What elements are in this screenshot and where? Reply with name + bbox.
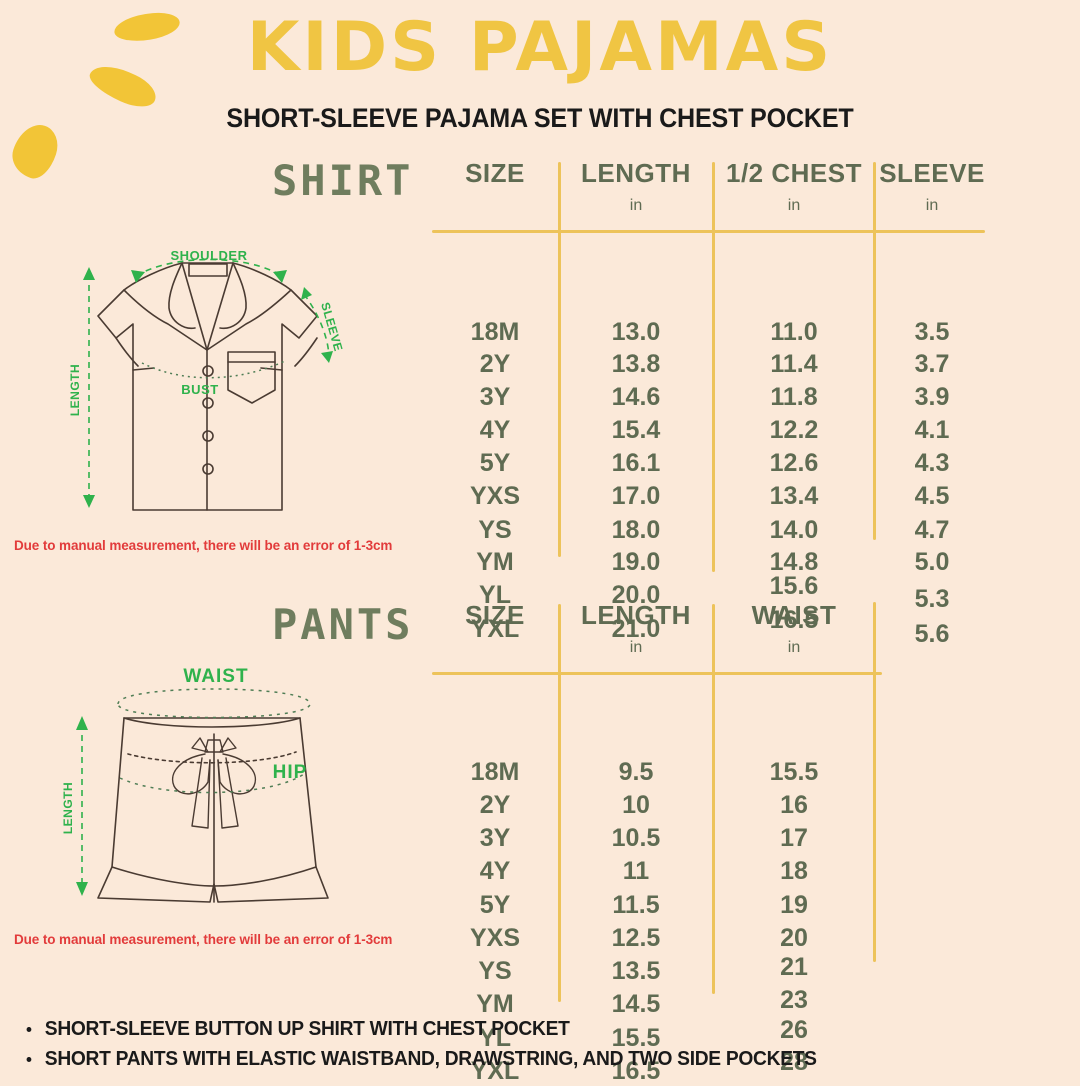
table-cell-waist: 19	[714, 891, 874, 920]
pants-measurement-note: Due to manual measurement, there will be…	[14, 932, 392, 947]
pants-table-header: SIZE LENGTH in WAIST in	[432, 600, 988, 672]
table-cell-length: 13.5	[560, 957, 712, 986]
table-cell-length: 13.0	[560, 318, 712, 347]
page-subtitle: SHORT-SLEEVE PAJAMA SET WITH CHEST POCKE…	[38, 103, 1042, 134]
list-item: SHORT-SLEEVE BUTTON UP SHIRT WITH CHEST …	[16, 1014, 1014, 1044]
table-cell-sleeve: 3.5	[876, 318, 988, 347]
table-cell-length: 12.5	[560, 924, 712, 953]
table-cell-half_chest: 15.6	[714, 572, 874, 601]
pants-diagram: WAIST HIP LENGTH	[32, 662, 412, 942]
table-cell-length: 16.1	[560, 449, 712, 478]
size-chart-poster: KIDS PAJAMAS SHORT-SLEEVE PAJAMA SET WIT…	[0, 0, 1080, 1080]
pants-hip-label: HIP	[273, 762, 308, 783]
table-cell-waist: 15.5	[714, 758, 874, 787]
table-cell-size: 5Y	[432, 891, 558, 920]
table-cell-size: 4Y	[432, 416, 558, 445]
table-cell-size: YM	[432, 548, 558, 577]
pants-section-heading: PANTS	[272, 604, 413, 646]
table-cell-waist: 16	[714, 791, 874, 820]
table-cell-length: 10	[560, 791, 712, 820]
table-cell-half_chest: 12.6	[714, 449, 874, 478]
table-cell-half_chest: 14.0	[714, 516, 874, 545]
shirt-section-heading: SHIRT	[272, 160, 413, 202]
table-cell-sleeve: 4.1	[876, 416, 988, 445]
table-cell-length: 9.5	[560, 758, 712, 787]
shirt-shoulder-label: SHOULDER	[171, 248, 248, 263]
table-cell-length: 15.4	[560, 416, 712, 445]
table-cell-sleeve: 3.7	[876, 350, 988, 379]
table-cell-length: 10.5	[560, 824, 712, 853]
pants-col-length: LENGTH in	[560, 600, 712, 657]
table-cell-waist: 21	[714, 953, 874, 982]
page-title: KIDS PAJAMAS	[0, 14, 1080, 82]
pants-length-label: LENGTH	[61, 782, 75, 834]
pants-col-waist: WAIST in	[714, 600, 874, 657]
table-cell-size: 5Y	[432, 449, 558, 478]
table-cell-length: 14.6	[560, 383, 712, 412]
feature-list: SHORT-SLEEVE BUTTON UP SHIRT WITH CHEST …	[16, 1014, 1056, 1074]
table-cell-sleeve: 5.0	[876, 548, 988, 577]
pants-header-rule	[432, 672, 882, 675]
table-cell-half_chest: 11.8	[714, 383, 874, 412]
pants-size-table: SIZE LENGTH in WAIST in 18M9.515.52Y1016…	[432, 600, 988, 672]
table-cell-size: YS	[432, 516, 558, 545]
table-cell-sleeve: 4.3	[876, 449, 988, 478]
shirt-size-table: SIZE LENGTH in 1/2 CHEST in SLEEVE in 18…	[432, 158, 988, 230]
table-cell-size: 2Y	[432, 350, 558, 379]
pants-col-size: SIZE	[432, 600, 558, 631]
table-cell-half_chest: 11.0	[714, 318, 874, 347]
table-cell-length: 11.5	[560, 891, 712, 920]
shirt-table-header: SIZE LENGTH in 1/2 CHEST in SLEEVE in	[432, 158, 988, 230]
pants-waist-label: WAIST	[183, 666, 248, 687]
table-cell-length: 19.0	[560, 548, 712, 577]
shirt-col-sleeve: SLEEVE in	[876, 158, 988, 215]
table-cell-size: YXS	[432, 482, 558, 511]
table-cell-sleeve: 3.9	[876, 383, 988, 412]
table-cell-waist: 17	[714, 824, 874, 853]
shirt-col-length: LENGTH in	[560, 158, 712, 215]
table-cell-length: 11	[560, 857, 712, 886]
table-cell-waist: 18	[714, 857, 874, 886]
shirt-length-label: LENGTH	[68, 364, 82, 416]
table-cell-size: 18M	[432, 318, 558, 347]
shirt-col-half-chest: 1/2 CHEST in	[714, 158, 874, 215]
table-cell-size: YS	[432, 957, 558, 986]
table-cell-half_chest: 11.4	[714, 350, 874, 379]
table-cell-waist: 23	[714, 986, 874, 1015]
table-cell-size: 3Y	[432, 824, 558, 853]
shirt-header-rule	[432, 230, 985, 233]
table-cell-length: 13.8	[560, 350, 712, 379]
table-cell-size: 18M	[432, 758, 558, 787]
table-cell-size: 4Y	[432, 857, 558, 886]
table-cell-waist: 20	[714, 924, 874, 953]
table-cell-sleeve: 4.5	[876, 482, 988, 511]
table-cell-length: 17.0	[560, 482, 712, 511]
table-cell-sleeve: 4.7	[876, 516, 988, 545]
shirt-bust-label: BUST	[181, 382, 218, 397]
table-cell-size: 2Y	[432, 791, 558, 820]
shirt-measurement-note: Due to manual measurement, there will be…	[14, 538, 392, 553]
shirt-col-size: SIZE	[432, 158, 558, 189]
table-cell-half_chest: 13.4	[714, 482, 874, 511]
shirt-diagram: SHOULDER SLEEVE LENGTH BUST	[32, 238, 402, 538]
table-cell-length: 18.0	[560, 516, 712, 545]
table-cell-half_chest: 12.2	[714, 416, 874, 445]
list-item: SHORT PANTS WITH ELASTIC WAISTBAND, DRAW…	[16, 1044, 1014, 1074]
table-cell-size: 3Y	[432, 383, 558, 412]
table-cell-size: YXS	[432, 924, 558, 953]
